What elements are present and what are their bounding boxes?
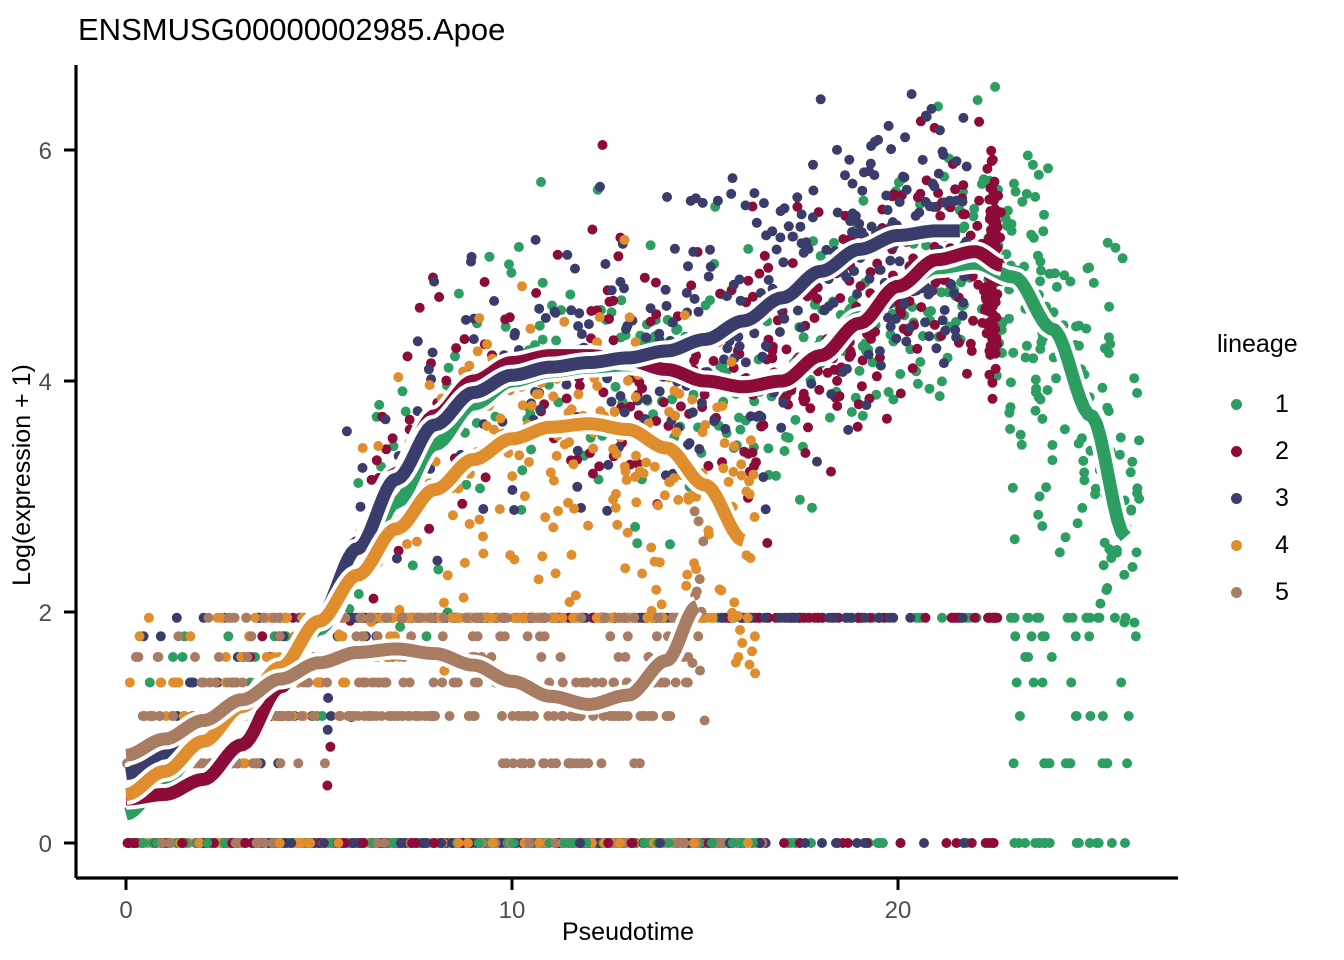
legend-swatch — [1213, 540, 1259, 551]
legend-item[interactable]: 1 — [1213, 381, 1333, 428]
legend-item-label: 2 — [1275, 437, 1289, 466]
curve-halo-lineage-1 — [126, 263, 1126, 814]
legend-item-label: 4 — [1275, 531, 1289, 560]
x-tick-label: 0 — [119, 897, 132, 924]
legend-color-dot — [1231, 446, 1242, 457]
x-axis-title: Pseudotime — [562, 918, 694, 946]
legend-swatch — [1213, 493, 1259, 504]
legend-swatch — [1213, 587, 1259, 598]
y-tick-label: 4 — [39, 369, 52, 396]
y-tick-label: 6 — [39, 138, 52, 165]
legend-item[interactable]: 2 — [1213, 428, 1333, 475]
legend-item-label: 3 — [1275, 484, 1289, 513]
y-tick-label: 2 — [39, 600, 52, 627]
legend-item-label: 5 — [1275, 578, 1289, 607]
legend-color-dot — [1231, 493, 1242, 504]
legend-color-dot — [1231, 587, 1242, 598]
legend-color-dot — [1231, 399, 1242, 410]
legend-color-dot — [1231, 540, 1242, 551]
legend-item[interactable]: 4 — [1213, 522, 1333, 569]
scatter-plot: 024601020PseudotimeLog(expression + 1) — [0, 0, 1344, 960]
scatter-points-layer — [122, 82, 1144, 848]
legend-item[interactable]: 3 — [1213, 475, 1333, 522]
legend: lineage 12345 — [1213, 330, 1333, 616]
legend-item-label: 1 — [1275, 390, 1289, 419]
chart-page: ENSMUSG00000002985.Apoe 024601020Pseudot… — [0, 0, 1344, 960]
legend-items: 12345 — [1213, 381, 1333, 616]
legend-item[interactable]: 5 — [1213, 569, 1333, 616]
x-tick-label: 10 — [499, 897, 526, 924]
fitted-curve-lineage-1 — [126, 263, 1126, 814]
legend-swatch — [1213, 399, 1259, 410]
y-axis-title: Log(expression + 1) — [8, 364, 36, 586]
legend-title: lineage — [1217, 330, 1333, 359]
legend-swatch — [1213, 446, 1259, 457]
x-tick-label: 20 — [885, 897, 912, 924]
y-tick-label: 0 — [39, 831, 52, 858]
